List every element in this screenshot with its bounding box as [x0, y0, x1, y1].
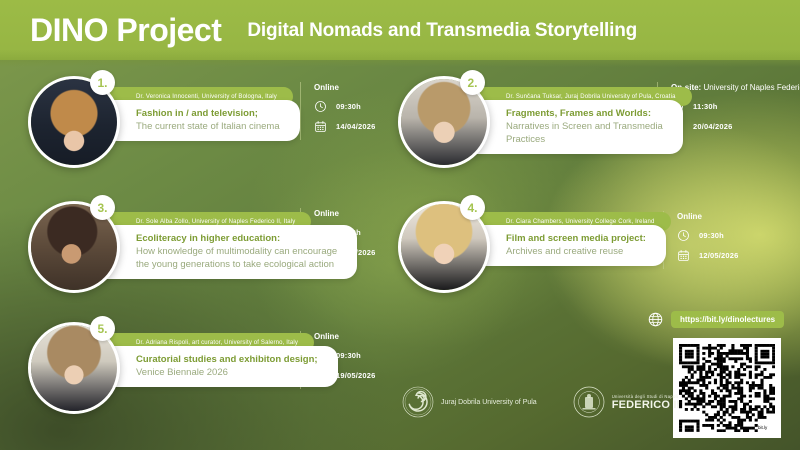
lecture-url[interactable]: https://bit.ly/dinolectures: [671, 311, 784, 328]
lecture-date-row: 20/04/2026: [671, 120, 800, 133]
lecture-title-line: Practices: [506, 133, 663, 146]
lecture-speaker: Dr. Ciara Chambers, University College C…: [506, 219, 655, 225]
lecture-title-line: Fragments, Frames and Worlds:: [506, 107, 663, 120]
lecture-speaker: Dr. Sunčana Tuksar, Juraj Dobrila Univer…: [506, 94, 676, 100]
lecture-speaker: Dr. Veronica Innocenti, University of Bo…: [136, 94, 277, 100]
lecture-title-line: How knowledge of multimodality can encou…: [136, 245, 337, 258]
lecture-mode: Online: [314, 82, 376, 93]
lecture-date: 12/05/2026: [699, 251, 739, 260]
lecture-link[interactable]: https://bit.ly/dinolectures: [648, 311, 784, 328]
lecture-mode-label: Online: [314, 209, 339, 218]
lecture-meta: Online 09:30h 12/05/2026: [663, 211, 739, 269]
poster-header: DINO Project Digital Nomads and Transmed…: [0, 0, 800, 60]
lecture-time: 09:30h: [336, 351, 361, 360]
clock-icon: [314, 100, 327, 113]
lecture-title-line: Venice Biennale 2026: [136, 366, 318, 379]
lecture-speaker: Dr. Sole Alba Zollo, University of Naple…: [136, 219, 295, 225]
clock-icon: [677, 229, 690, 242]
lecture-title-line: Film and screen media project:: [506, 232, 646, 245]
lecture-time-row: 09:30h: [677, 229, 739, 242]
lecture-title-line: Archives and creative reuse: [506, 245, 646, 258]
lecture-mode: Online: [314, 331, 376, 342]
lecture-speaker: Dr. Adriana Rispoli, art curator, Univer…: [136, 340, 298, 346]
logo-federico-label: Università degli Studi di Napoli FEDERIC…: [612, 394, 680, 411]
lecture-mode: Online: [314, 208, 376, 219]
lecture-date: 19/05/2026: [336, 371, 376, 380]
lecture-mode-label: Online: [677, 212, 702, 221]
globe-icon: [648, 312, 663, 327]
qr-code[interactable]: [673, 338, 781, 438]
logo-federico-small: Università degli Studi di Napoli: [612, 394, 680, 399]
calendar-icon: [314, 120, 327, 133]
lecture-date: 14/04/2026: [336, 122, 376, 131]
lecture-time-row: 11:30h: [671, 100, 800, 113]
footer-logos: Juraj Dobrila University of Pula Univers…: [402, 386, 680, 418]
lecture-time: 11:30h: [693, 102, 718, 111]
lecture-title-line: the young generations to take ecological…: [136, 258, 337, 271]
lecture-mode-label: Online: [314, 332, 339, 341]
lecture-title-line: Curatorial studies and exhibiton design;: [136, 353, 318, 366]
lecture-meta: Online 09:30h 14/04/2026: [300, 82, 376, 140]
lecture-mode-venue: University of Naples Federico II: [701, 83, 800, 92]
logo-federico-big: FEDERICO II: [612, 399, 680, 411]
lecture-title-line: Narratives in Screen and Transmedia: [506, 120, 663, 133]
logo-federico: Università degli Studi di Napoli FEDERIC…: [573, 386, 680, 418]
poster-canvas: DINO Project Digital Nomads and Transmed…: [0, 0, 800, 450]
brand-subtitle: Digital Nomads and Transmedia Storytelli…: [247, 21, 637, 40]
lecture-mode-label: Online: [314, 83, 339, 92]
lecture-time: 09:30h: [336, 102, 361, 111]
qr-code-image: [679, 344, 775, 432]
brand-title: DINO Project: [30, 14, 221, 46]
lecture-number-badge: 2.: [460, 70, 485, 95]
lecture-date-row: 14/04/2026: [314, 120, 376, 133]
logo-pula: Juraj Dobrila University of Pula: [402, 386, 537, 418]
logo-pula-label: Juraj Dobrila University of Pula: [441, 398, 537, 407]
lecture-time: 09:30h: [699, 231, 724, 240]
lecture-number-badge: 5.: [90, 316, 115, 341]
lecture-title-line: The current state of Italian cinema: [136, 120, 280, 133]
calendar-icon: [677, 249, 690, 262]
lecture-title-line: Ecoliteracy in higher education:: [136, 232, 337, 245]
lecture-date-row: 12/05/2026: [677, 249, 739, 262]
lecture-number-badge: 4.: [460, 195, 485, 220]
lecture-number-badge: 1.: [90, 70, 115, 95]
lecture-time-row: 09:30h: [314, 100, 376, 113]
lecture-mode: Online: [677, 211, 739, 222]
lecture-title-line: Fashion in / and television;: [136, 107, 280, 120]
crest-logo-icon: [573, 386, 605, 418]
spiral-logo-icon: [402, 386, 434, 418]
lecture-date: 20/04/2026: [693, 122, 733, 131]
lecture-number-badge: 3.: [90, 195, 115, 220]
